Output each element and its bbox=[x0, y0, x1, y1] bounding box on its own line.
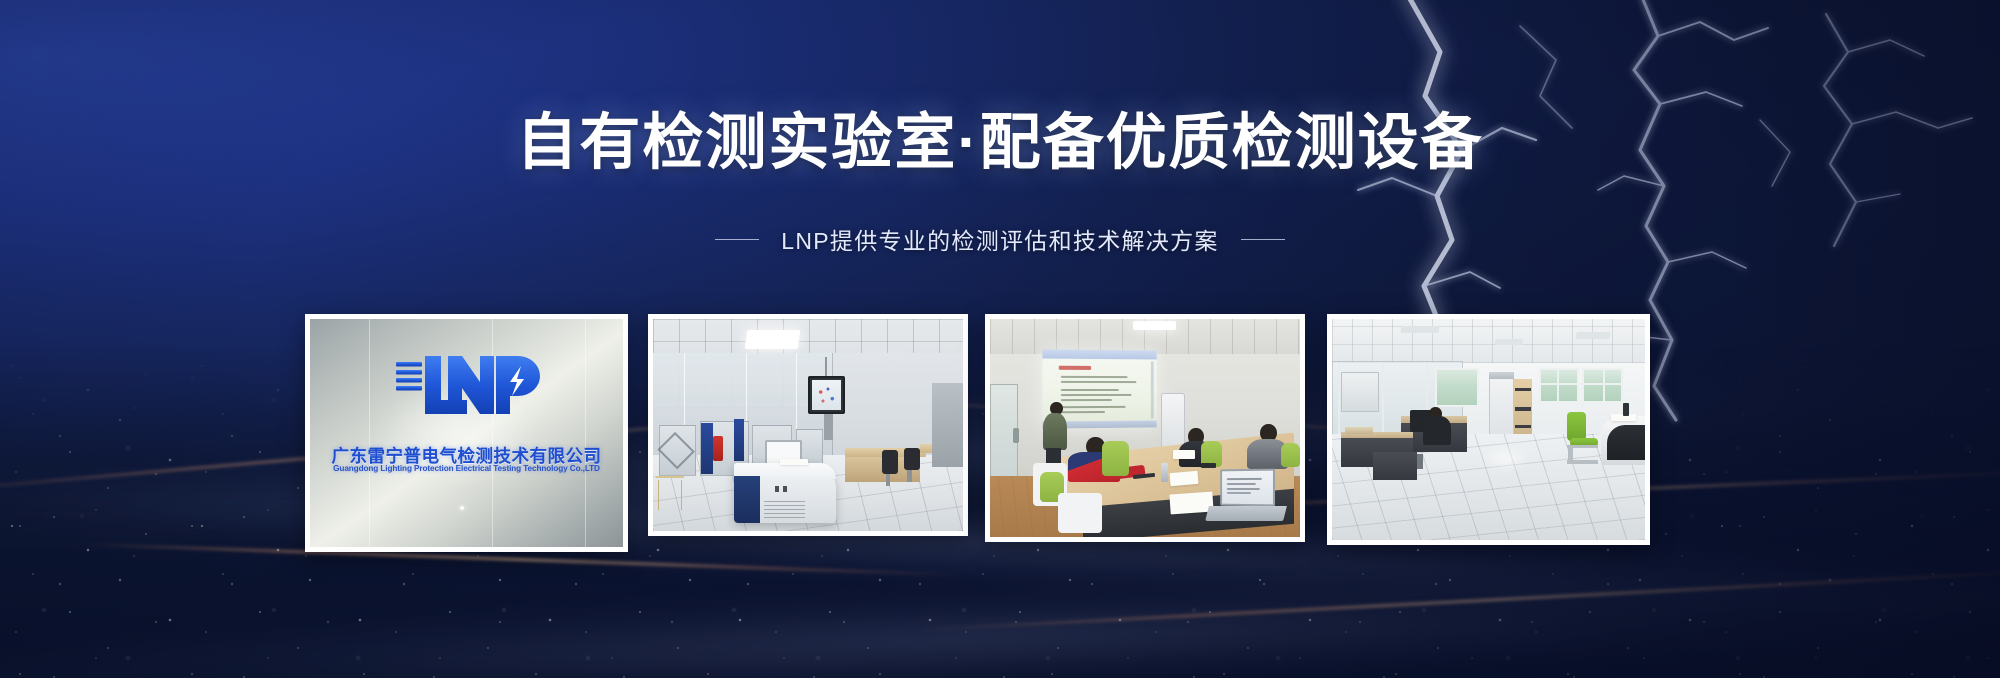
slide-heading bbox=[1059, 365, 1091, 369]
cabinet-top-ac bbox=[1489, 372, 1514, 379]
console-vent bbox=[764, 498, 805, 518]
photo-company-logo-wall: 广东雷宁普电气检测技术有限公司 Guangdong Lighting Prote… bbox=[310, 319, 623, 547]
ceiling-vent bbox=[1576, 332, 1611, 339]
console-blue-side bbox=[734, 476, 761, 522]
counter-device bbox=[1623, 403, 1629, 416]
slide-text-line bbox=[1061, 375, 1127, 377]
lab-equipment-behind-glass bbox=[1341, 372, 1379, 412]
laptop-text-line bbox=[1227, 493, 1251, 495]
wall-display bbox=[808, 376, 845, 414]
ceiling-vent bbox=[1494, 339, 1523, 345]
glass-mullion bbox=[1382, 363, 1384, 434]
chair-leg bbox=[886, 474, 891, 487]
display-screen bbox=[812, 380, 841, 410]
equipment-stand-leg bbox=[658, 480, 660, 510]
chair-frame bbox=[1567, 460, 1598, 463]
slide-text-line bbox=[1061, 389, 1118, 391]
equipment-stand-leg bbox=[681, 480, 683, 510]
tv-column bbox=[824, 414, 833, 439]
laptop-keyboard bbox=[1205, 506, 1286, 521]
laptop-text-line bbox=[1227, 488, 1260, 490]
office-chair bbox=[904, 448, 920, 469]
tall-cabinet bbox=[1489, 376, 1514, 438]
worker-body bbox=[1423, 416, 1451, 445]
mobile-phone bbox=[1201, 463, 1217, 468]
window-mullion bbox=[1539, 383, 1624, 385]
corridor-opening bbox=[932, 383, 963, 468]
gallery-card-office-area[interactable] bbox=[1327, 314, 1650, 545]
office-window bbox=[1435, 368, 1479, 408]
window-mullion bbox=[1603, 368, 1605, 403]
presenter-body bbox=[1043, 413, 1068, 450]
slide-text-line bbox=[1061, 380, 1136, 382]
laptop-screen bbox=[1221, 469, 1276, 507]
chair-leg bbox=[907, 470, 912, 483]
glass-mullion bbox=[1338, 363, 1340, 434]
test-rig-blue-column bbox=[701, 423, 713, 474]
ceiling-panel-light bbox=[1133, 321, 1176, 330]
slide-text-line bbox=[1061, 393, 1132, 395]
slide-text-line bbox=[1061, 398, 1111, 400]
office-chair bbox=[882, 450, 898, 473]
gallery-card-testing-laboratory[interactable] bbox=[648, 314, 968, 536]
desk-pedestal bbox=[1373, 452, 1417, 481]
reception-counter-body bbox=[1607, 425, 1645, 460]
wall-panel-seam bbox=[585, 319, 586, 547]
shelf-item bbox=[1515, 425, 1531, 428]
photo-gallery: 广东雷宁普电气检测技术有限公司 Guangdong Lighting Prote… bbox=[0, 0, 2000, 678]
shelf-item bbox=[1515, 407, 1531, 410]
meeting-chair-green bbox=[1102, 441, 1130, 476]
photo-office-area bbox=[1332, 319, 1645, 540]
gallery-card-company-logo-wall[interactable]: 广东雷宁普电气检测技术有限公司 Guangdong Lighting Prote… bbox=[305, 314, 628, 552]
visitor-chair-green bbox=[1567, 412, 1586, 441]
console-handle bbox=[775, 486, 779, 492]
sunlight-patch bbox=[1470, 443, 1539, 474]
shelf-item bbox=[1515, 388, 1531, 391]
slide-scrollbar[interactable] bbox=[1151, 361, 1154, 418]
lnp-logo-icon bbox=[392, 350, 542, 424]
chair-post bbox=[1417, 454, 1423, 469]
gallery-card-training-meeting-room[interactable] bbox=[985, 314, 1305, 542]
photo-training-meeting-room bbox=[990, 319, 1300, 537]
ceiling-panel-light bbox=[745, 330, 800, 349]
thermos-cup bbox=[1161, 463, 1169, 483]
meeting-chair-green bbox=[1281, 443, 1300, 467]
meeting-notes bbox=[1169, 470, 1198, 485]
equipment-stand-top bbox=[656, 476, 684, 478]
wall-panel-seam bbox=[369, 319, 370, 547]
ceiling-vent bbox=[1400, 326, 1439, 333]
slide-title-bar bbox=[1042, 349, 1156, 360]
tv-mount-stem bbox=[825, 357, 827, 378]
hero-banner: 自有检测实验室·配备优质检测设备 LNP提供专业的检测评估和技术解决方案 bbox=[0, 0, 2000, 678]
console-handle bbox=[783, 486, 787, 492]
slide-text-line bbox=[1061, 411, 1105, 413]
photo-testing-laboratory bbox=[653, 319, 963, 531]
door-handle[interactable] bbox=[1013, 428, 1019, 443]
office-ceiling bbox=[1332, 319, 1645, 363]
slide-text-line bbox=[1061, 406, 1125, 408]
console-papers bbox=[780, 459, 808, 465]
laptop-text-line bbox=[1227, 478, 1262, 480]
sign-english-name: Guangdong Lighting Protection Electrical… bbox=[310, 464, 623, 473]
control-console bbox=[734, 463, 836, 522]
test-rig-blue-column bbox=[734, 419, 745, 461]
window-mullion bbox=[1557, 368, 1559, 403]
meeting-notes bbox=[1173, 450, 1195, 459]
meeting-chair-white bbox=[1058, 493, 1101, 532]
desk-documents bbox=[1345, 427, 1373, 434]
laptop-text-line bbox=[1227, 483, 1256, 485]
test-rig-red-part bbox=[713, 436, 722, 461]
air-conditioner bbox=[1161, 393, 1186, 450]
